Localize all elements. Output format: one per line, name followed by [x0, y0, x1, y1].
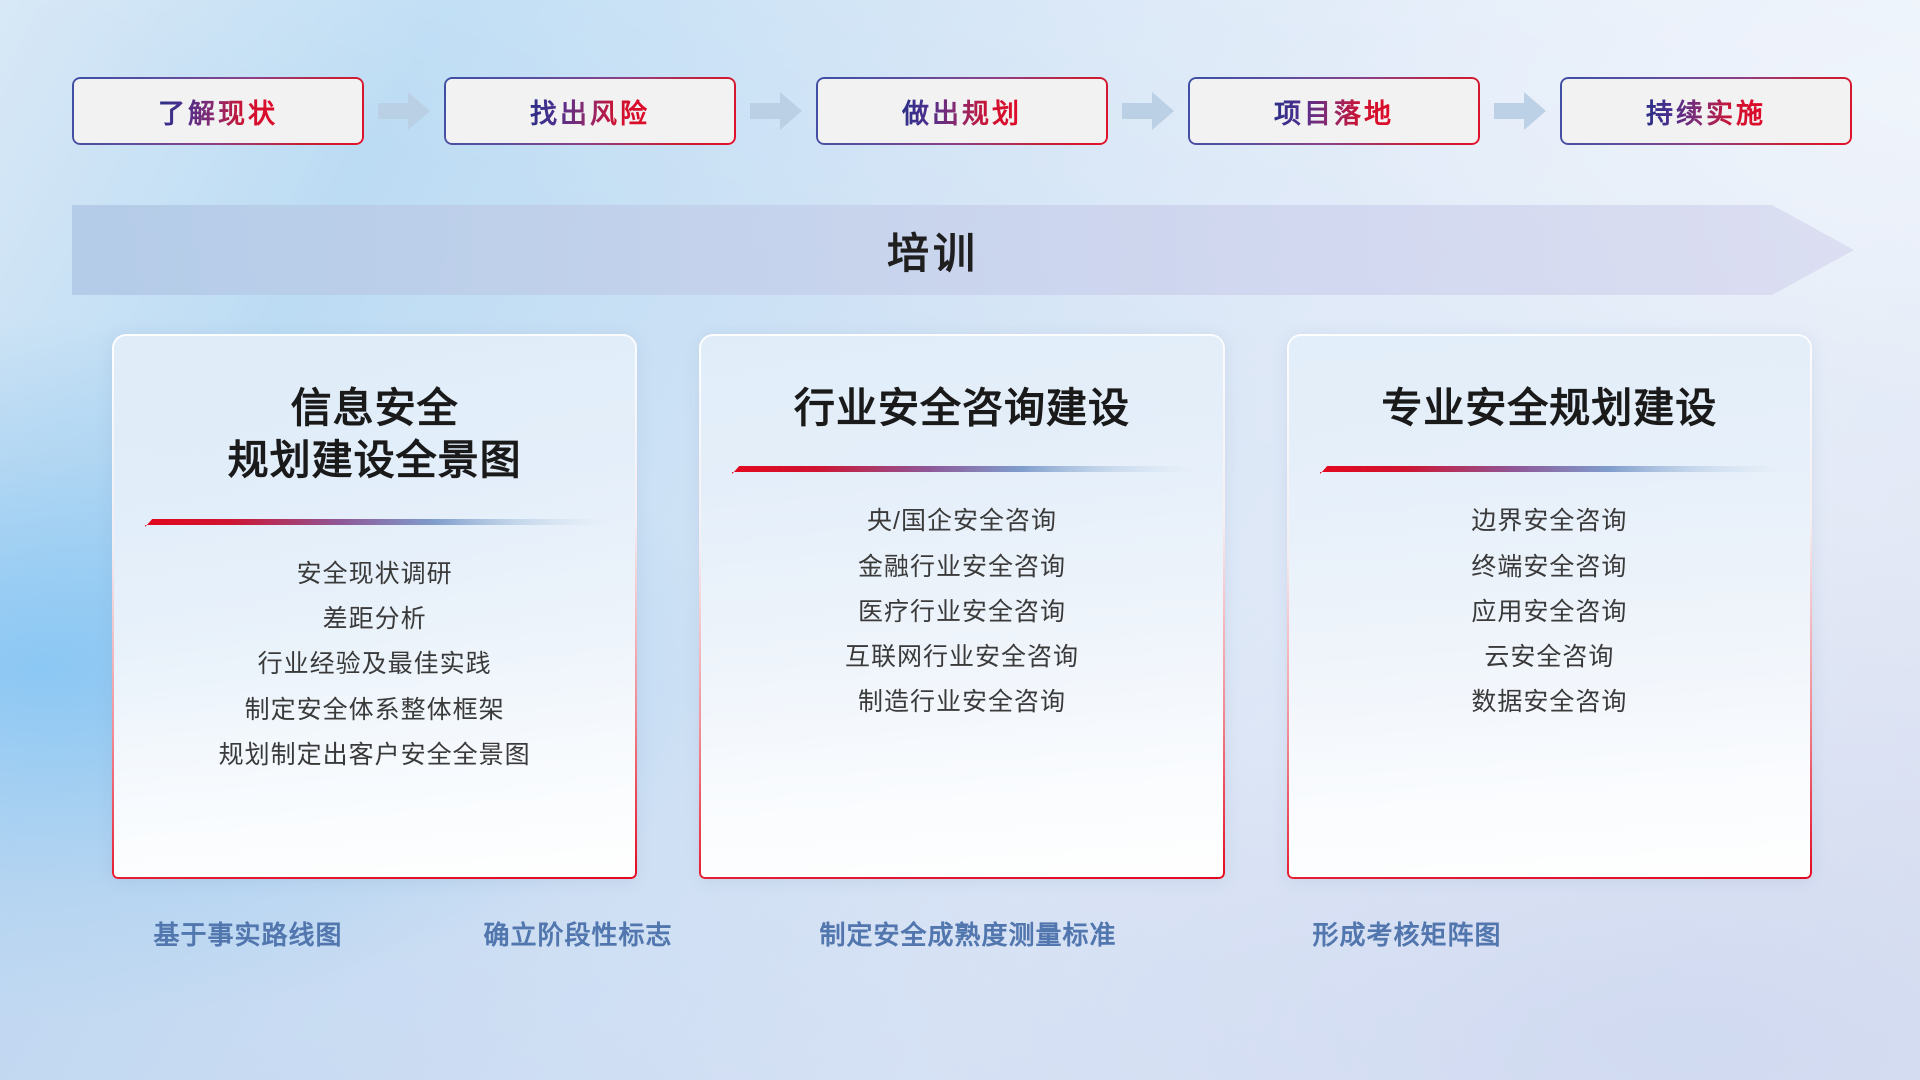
process-connector-arrow-3	[1120, 91, 1176, 131]
process-step-label: 项目落地	[1274, 92, 1394, 131]
card-list-item[interactable]: 终端安全咨询	[1471, 552, 1627, 583]
service-card-3[interactable]: 专业安全规划建设边界安全咨询终端安全咨询应用安全咨询云安全咨询数据安全咨询	[1287, 334, 1812, 879]
card-list-item[interactable]: 安全现状调研	[297, 559, 453, 590]
arrow-right-icon	[750, 92, 802, 130]
process-step-row: 了解现状找出风险做出规划项目落地持续实施	[72, 76, 1852, 146]
service-card-1[interactable]: 信息安全 规划建设全景图安全现状调研差距分析行业经验及最佳实践制定安全体系整体框…	[112, 334, 637, 879]
card-divider	[138, 513, 611, 529]
card-item-list: 安全现状调研差距分析行业经验及最佳实践制定安全体系整体框架规划制定出客户安全全景…	[219, 559, 531, 771]
card-divider-shape	[1313, 460, 1786, 476]
card-title: 专业安全规划建设	[1381, 382, 1717, 434]
service-card-2[interactable]: 行业安全咨询建设央/国企安全咨询金融行业安全咨询医疗行业安全咨询互联网行业安全咨…	[699, 334, 1224, 879]
process-step-label: 做出规划	[902, 92, 1022, 131]
arrow-right-icon	[1122, 92, 1174, 130]
training-banner: 培训	[72, 205, 1854, 295]
process-step-5[interactable]: 持续实施	[1560, 77, 1852, 145]
banner-title: 培训	[72, 205, 1854, 295]
card-title: 行业安全咨询建设	[794, 382, 1130, 434]
card-list-item[interactable]: 差距分析	[323, 604, 427, 635]
process-step-3[interactable]: 做出规划	[816, 77, 1108, 145]
card-list-item[interactable]: 云安全咨询	[1484, 642, 1614, 673]
footer-label-1: 基于事实路线图	[153, 915, 342, 952]
footer-label-row: 基于事实路线图确立阶段性标志制定安全成熟度测量标准形成考核矩阵图	[0, 915, 1920, 961]
card-divider	[1313, 460, 1786, 476]
card-divider-shape	[725, 460, 1198, 476]
process-connector-arrow-1	[376, 91, 432, 131]
card-row: 信息安全 规划建设全景图安全现状调研差距分析行业经验及最佳实践制定安全体系整体框…	[112, 334, 1812, 879]
process-connector-arrow-2	[748, 91, 804, 131]
process-step-label: 持续实施	[1646, 92, 1766, 131]
arrow-right-icon	[1494, 92, 1546, 130]
card-list-item[interactable]: 医疗行业安全咨询	[858, 597, 1066, 628]
card-divider	[725, 460, 1198, 476]
card-divider-shape	[138, 513, 611, 529]
card-title: 信息安全 规划建设全景图	[228, 382, 522, 487]
process-step-label: 找出风险	[530, 92, 650, 131]
card-list-item[interactable]: 互联网行业安全咨询	[845, 642, 1079, 673]
card-list-item[interactable]: 制造行业安全咨询	[858, 687, 1066, 718]
arrow-right-icon	[378, 92, 430, 130]
card-list-item[interactable]: 制定安全体系整体框架	[245, 695, 505, 726]
footer-label-4: 形成考核矩阵图	[1312, 915, 1501, 952]
card-item-list: 央/国企安全咨询金融行业安全咨询医疗行业安全咨询互联网行业安全咨询制造行业安全咨…	[845, 506, 1079, 718]
footer-label-3: 制定安全成熟度测量标准	[819, 915, 1116, 952]
card-item-list: 边界安全咨询终端安全咨询应用安全咨询云安全咨询数据安全咨询	[1471, 506, 1627, 718]
card-content: 信息安全 规划建设全景图安全现状调研差距分析行业经验及最佳实践制定安全体系整体框…	[112, 334, 637, 879]
card-list-item[interactable]: 边界安全咨询	[1471, 506, 1627, 537]
card-list-item[interactable]: 行业经验及最佳实践	[258, 649, 492, 680]
process-step-1[interactable]: 了解现状	[72, 77, 364, 145]
card-content: 行业安全咨询建设央/国企安全咨询金融行业安全咨询医疗行业安全咨询互联网行业安全咨…	[699, 334, 1224, 879]
card-list-item[interactable]: 规划制定出客户安全全景图	[219, 740, 531, 771]
process-step-label: 了解现状	[158, 92, 278, 131]
process-step-4[interactable]: 项目落地	[1188, 77, 1480, 145]
process-connector-arrow-4	[1492, 91, 1548, 131]
card-content: 专业安全规划建设边界安全咨询终端安全咨询应用安全咨询云安全咨询数据安全咨询	[1287, 334, 1812, 879]
slide-stage: 了解现状找出风险做出规划项目落地持续实施 培训 信息安全 规划建设全景图安全现状…	[0, 0, 1920, 1080]
card-list-item[interactable]: 央/国企安全咨询	[867, 506, 1057, 537]
card-list-item[interactable]: 应用安全咨询	[1471, 597, 1627, 628]
card-list-item[interactable]: 金融行业安全咨询	[858, 552, 1066, 583]
process-step-2[interactable]: 找出风险	[444, 77, 736, 145]
card-list-item[interactable]: 数据安全咨询	[1471, 687, 1627, 718]
footer-label-2: 确立阶段性标志	[483, 915, 672, 952]
